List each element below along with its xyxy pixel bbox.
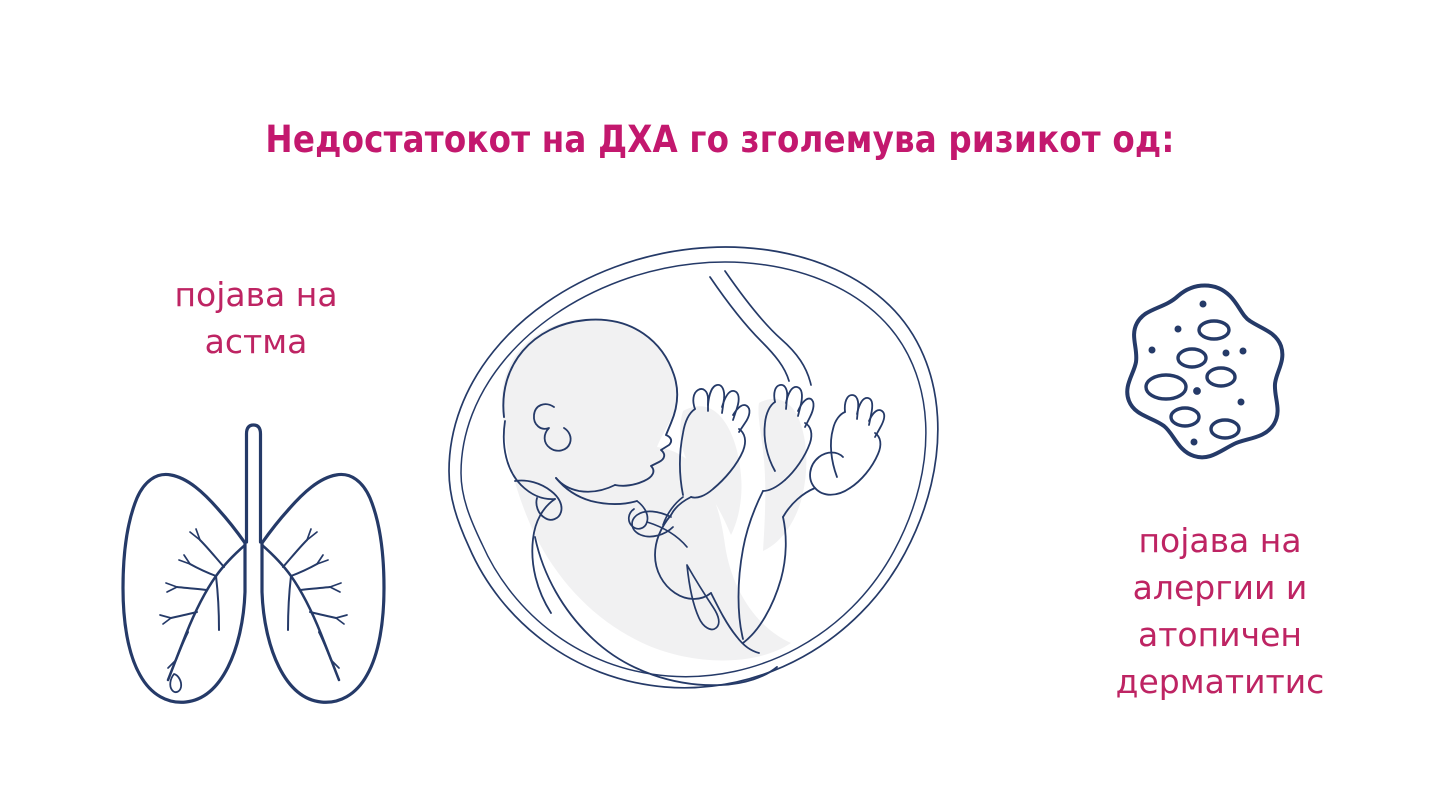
skin-cell-illustration (1108, 274, 1304, 466)
fetus-illustration (425, 235, 977, 705)
lungs-illustration (104, 412, 404, 718)
page-title: Недостатокот на ДХА го зголемува ризикот… (86, 119, 1353, 162)
infographic-canvas: Недостатокот на ДХА го зголемува ризикот… (0, 0, 1440, 809)
right-column-label: појава на алергии и атопичен дерматитис (1040, 518, 1400, 705)
left-column-label: појава на астма (96, 272, 416, 366)
